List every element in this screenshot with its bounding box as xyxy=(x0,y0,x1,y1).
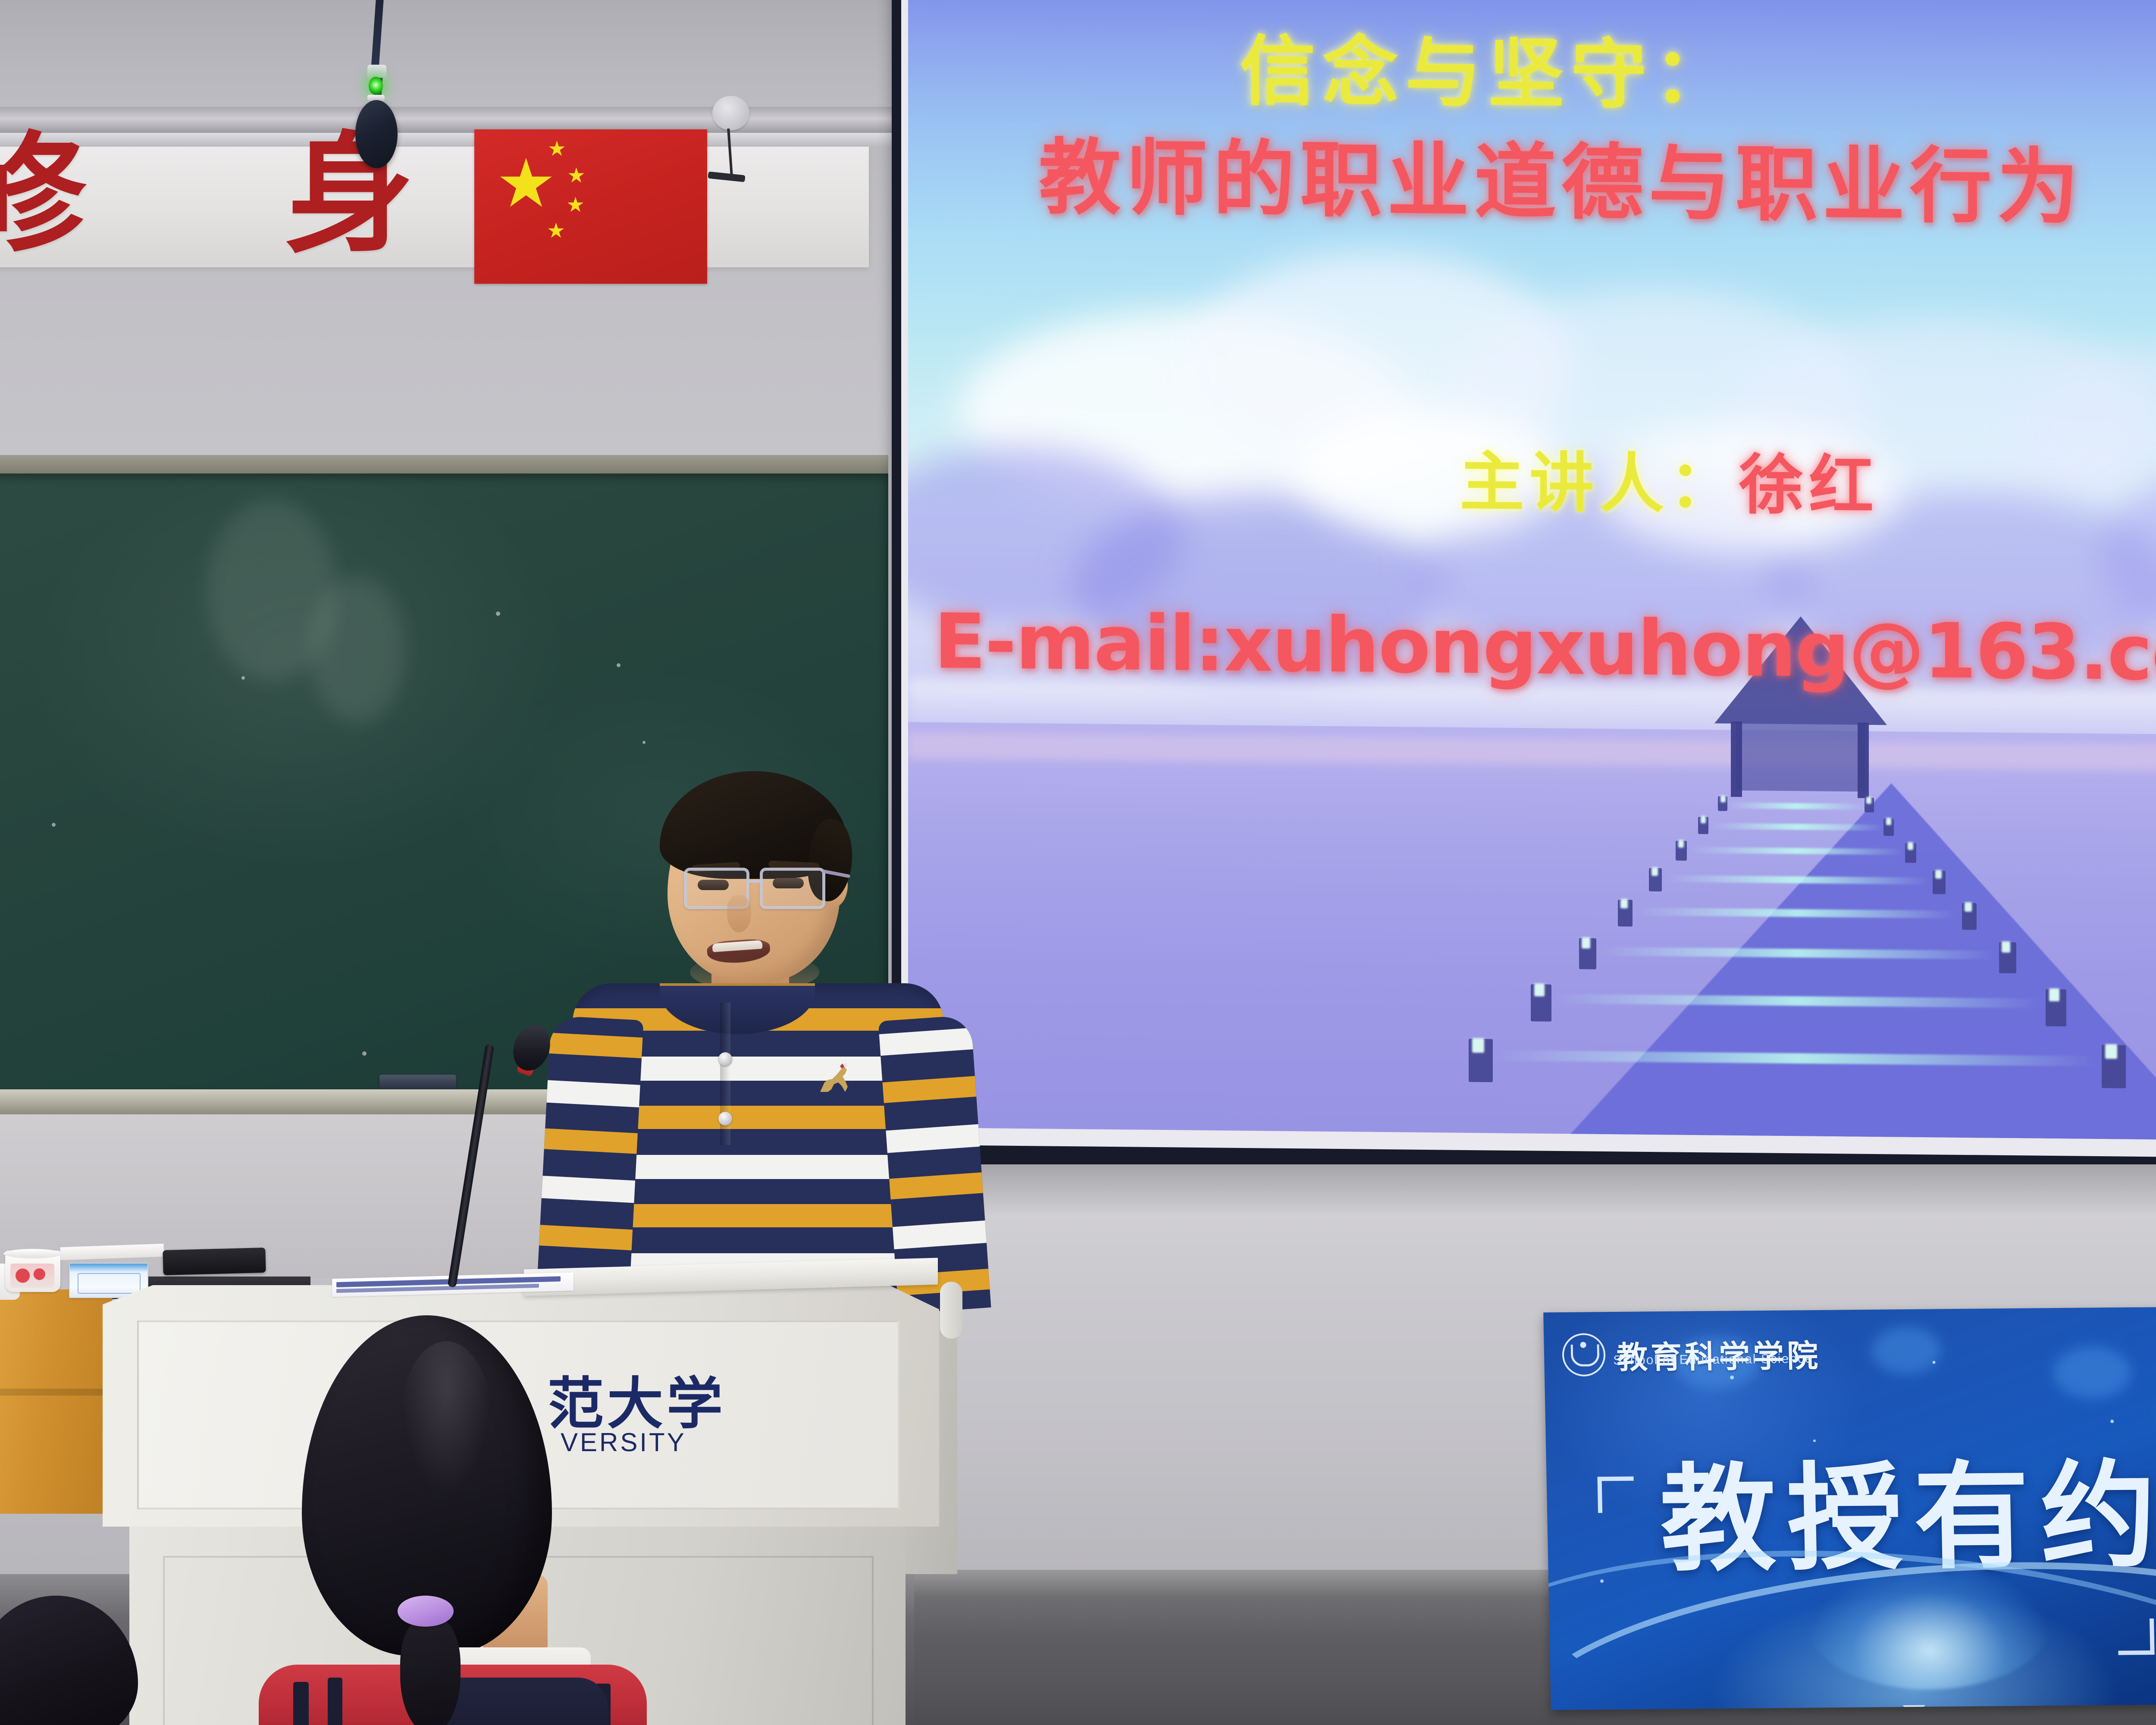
black-device[interactable] xyxy=(163,1248,266,1275)
speaker-shirt-button-1 xyxy=(718,1052,732,1066)
shelf-edge xyxy=(0,1389,112,1396)
flag-star-2: ★ xyxy=(567,166,586,186)
event-board: 教育科学学院 School of Educational Science 教授有… xyxy=(1543,1306,2156,1710)
slide-presenter-name: 徐红 xyxy=(1739,448,1879,524)
school-seal-icon xyxy=(1562,1333,1606,1377)
slide-title-line1: 信念与坚守： xyxy=(908,5,2156,129)
student-figure xyxy=(241,1315,664,1725)
ceiling-molding-lower xyxy=(0,133,912,147)
slide-title-line2: 教师的职业道德与职业行为 xyxy=(908,109,2156,241)
side-shelf xyxy=(0,1289,112,1514)
slide-pier-graphic xyxy=(1555,780,2156,1141)
flag-star-large: ★ xyxy=(496,150,556,217)
microphone-led-icon xyxy=(369,77,383,95)
paper-cup-pattern xyxy=(10,1264,54,1288)
slide-presenter-label: 主讲人： xyxy=(1460,445,1739,523)
speaker-shirt-button-2 xyxy=(718,1112,732,1126)
slide-email: E-mail:xuhongxuhong@163.co xyxy=(908,597,2156,699)
speaker-nose xyxy=(727,895,751,932)
glasses-bridge xyxy=(749,880,762,883)
ceiling-molding xyxy=(0,107,912,133)
presentation-slide: 信念与坚守： 教师的职业道德与职业行为 主讲人：徐红 E-mail:xuhong… xyxy=(908,0,2156,1141)
polo-horse-emblem-icon xyxy=(815,1062,858,1095)
speaker-figure xyxy=(517,750,983,1311)
hanging-microphone xyxy=(355,100,398,168)
blackboard-top-frame xyxy=(0,455,888,475)
slide-presenter-line: 主讲人：徐红 xyxy=(968,425,2156,532)
flag-star-3: ★ xyxy=(566,195,585,216)
paper-cup-rim xyxy=(3,1249,62,1258)
flag-star-4: ★ xyxy=(547,221,565,241)
wall-banner: 修 身 ★ ★ ★ ★ ★ xyxy=(0,147,869,267)
student-ponytail xyxy=(400,1617,461,1725)
student-hair-scrunchie xyxy=(398,1596,454,1627)
china-flag-icon: ★ ★ ★ ★ ★ xyxy=(474,129,707,284)
wall-shadow xyxy=(888,1164,2156,1216)
flag-star-1: ★ xyxy=(548,139,566,160)
glasses-lens-right xyxy=(760,868,825,909)
bracket-top-left xyxy=(1597,1477,1634,1513)
upper-wall-band xyxy=(0,0,910,108)
podium-knob[interactable] xyxy=(940,1282,962,1339)
banner-character-1: 修 xyxy=(0,129,86,259)
photo-scene: 修 身 ★ ★ ★ ★ ★ xyxy=(0,0,2156,1725)
school-name-en: School of Educational Science xyxy=(1613,1352,1813,1368)
wall-sensor-icon xyxy=(712,96,749,130)
